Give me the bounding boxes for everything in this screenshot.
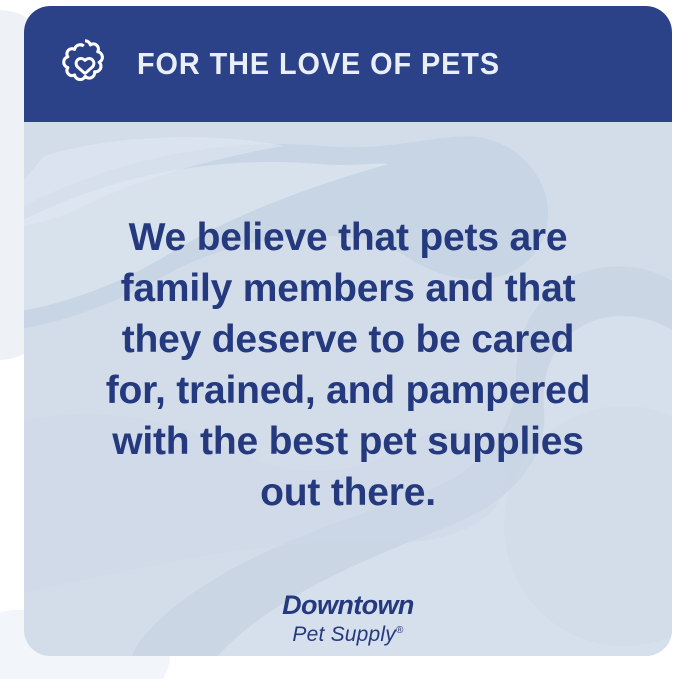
registered-trademark-icon: ® — [396, 625, 404, 636]
brand-logo: Downtown Pet Supply® — [24, 592, 672, 645]
quote-text: We believe that pets are family members … — [68, 212, 628, 518]
promo-banner: For the Love of Pets We believe that pet… — [0, 0, 679, 679]
quote-line-3: they deserve to be cared — [68, 314, 628, 365]
card-header: For the Love of Pets — [24, 6, 672, 122]
quote-line-6: out there. — [68, 467, 628, 518]
brand-name-secondary-text: Pet Supply — [292, 623, 396, 646]
quote-line-2: family members and that — [68, 263, 628, 314]
promo-card: For the Love of Pets We believe that pet… — [24, 6, 672, 656]
quote-line-1: We believe that pets are — [68, 212, 628, 263]
card-body: We believe that pets are family members … — [24, 122, 672, 656]
brand-name-secondary: Pet Supply® — [24, 624, 672, 645]
paw-heart-icon — [57, 36, 113, 92]
brand-name-primary: Downtown — [24, 592, 672, 619]
quote-line-5: with the best pet supplies — [68, 416, 628, 467]
quote-line-4: for, trained, and pampered — [68, 365, 628, 416]
header-title: For the Love of Pets — [137, 46, 500, 82]
